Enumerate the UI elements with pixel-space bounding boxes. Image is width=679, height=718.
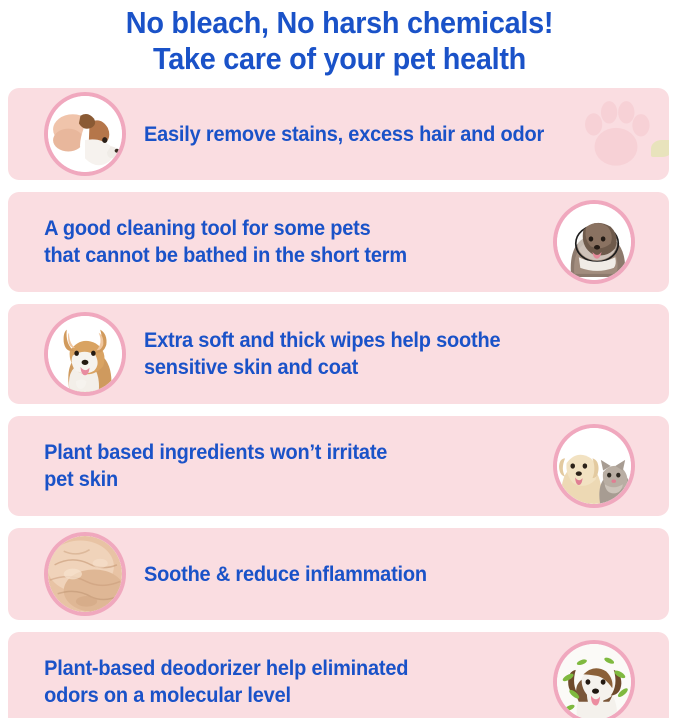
feature-text-line: sensitive skin and coat xyxy=(144,354,633,381)
dog-cone-collar-illustration xyxy=(557,204,631,280)
feature-list: Easily remove stains, excess hair and od… xyxy=(0,88,679,718)
feature-text: Plant-based deodorizer help eliminated o… xyxy=(8,655,509,709)
feature-text: A good cleaning tool for some pets that … xyxy=(8,215,509,269)
feature-row: Soothe & reduce inflammation xyxy=(8,528,669,620)
feature-text: Easily remove stains, excess hair and od… xyxy=(144,121,643,148)
irritated-skin-illustration xyxy=(48,536,122,612)
leaf-decoration-icon xyxy=(651,140,669,157)
page-title: No bleach, No harsh chemicals! Take care… xyxy=(24,0,655,77)
feature-text-line: that cannot be bathed in the short term xyxy=(44,242,509,269)
beagle-with-leaves-illustration xyxy=(557,644,631,718)
feature-text-line: Soothe & reduce inflammation xyxy=(144,561,633,588)
beagle-with-leaves-photo xyxy=(553,640,635,718)
dog-ear-wiping-photo xyxy=(44,92,126,176)
feature-text-line: Plant-based deodorizer help eliminated xyxy=(44,655,509,682)
feature-text-line: Extra soft and thick wipes help soothe xyxy=(144,327,633,354)
feature-text-line: Plant based ingredients won’t irritate xyxy=(44,439,509,466)
feature-text: Soothe & reduce inflammation xyxy=(144,561,643,588)
headline-line-2: Take care of your pet health xyxy=(24,41,655,77)
dog-cone-collar-photo xyxy=(553,200,635,284)
infographic-page: No bleach, No harsh chemicals! Take care… xyxy=(0,0,679,718)
feature-row: Plant-based deodorizer help eliminated o… xyxy=(8,632,669,718)
feature-text-line: A good cleaning tool for some pets xyxy=(44,215,509,242)
feature-text: Extra soft and thick wipes help soothe s… xyxy=(144,327,643,381)
feature-text-line: Easily remove stains, excess hair and od… xyxy=(144,121,633,148)
feature-row: Easily remove stains, excess hair and od… xyxy=(8,88,669,180)
feature-text: Plant based ingredients won’t irritate p… xyxy=(8,439,509,493)
dog-ear-wiping-illustration xyxy=(48,96,122,172)
feature-row: Extra soft and thick wipes help soothe s… xyxy=(8,304,669,404)
corgi-photo xyxy=(44,312,126,396)
feature-row: A good cleaning tool for some pets that … xyxy=(8,192,669,292)
feature-text-line: pet skin xyxy=(44,466,509,493)
puppy-and-kitten-photo xyxy=(553,424,635,508)
puppy-and-kitten-illustration xyxy=(557,428,631,504)
feature-row: Plant based ingredients won’t irritate p… xyxy=(8,416,669,516)
headline-line-1: No bleach, No harsh chemicals! xyxy=(24,5,655,41)
irritated-skin-closeup-photo xyxy=(44,532,126,616)
feature-text-line: odors on a molecular level xyxy=(44,682,509,709)
corgi-illustration xyxy=(48,316,122,392)
